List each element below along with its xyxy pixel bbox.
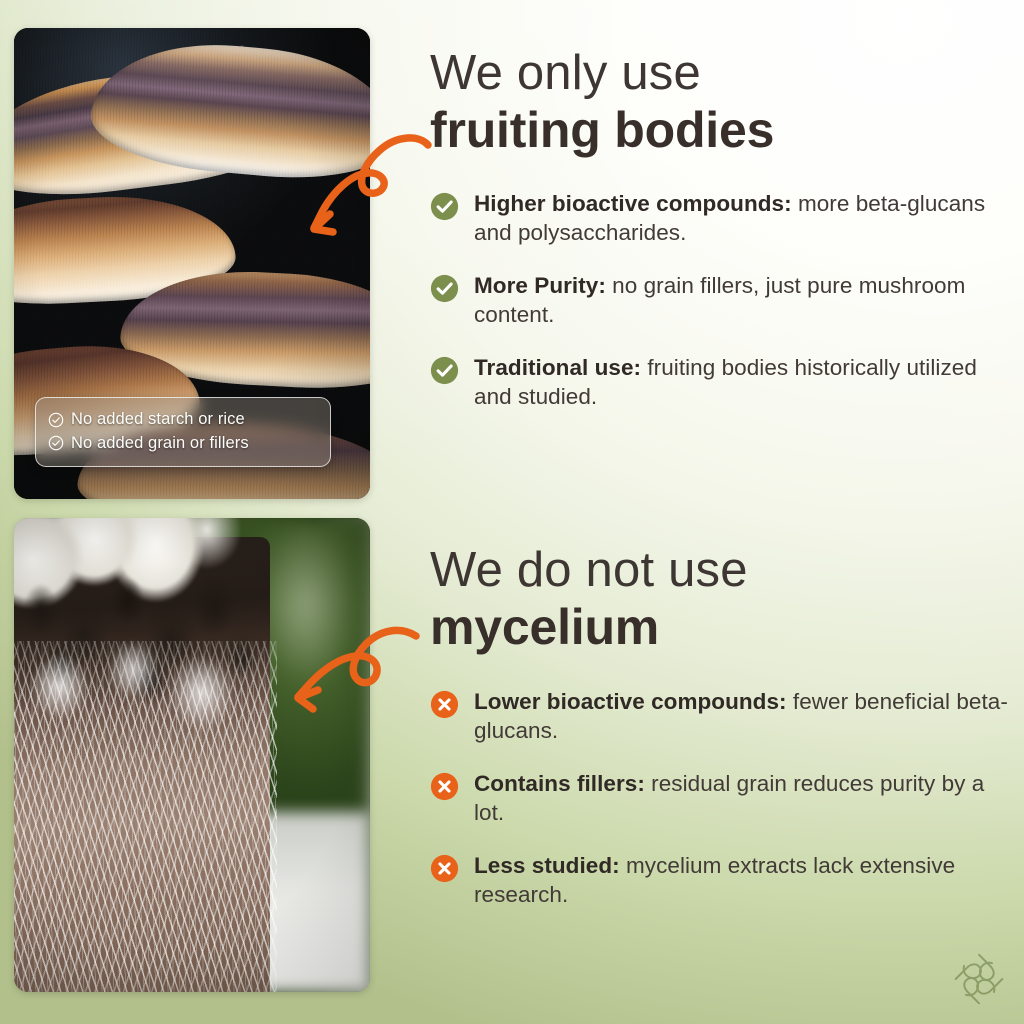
list-item-lead: More Purity: bbox=[474, 273, 606, 298]
fruiting-bodies-photo: No added starch or rice No added grain o… bbox=[14, 28, 370, 499]
no-fillers-caption-card: No added starch or rice No added grain o… bbox=[35, 397, 331, 467]
list-item: Contains fillers: residual grain reduces… bbox=[430, 769, 1012, 828]
list-item-lead: Higher bioactive compounds: bbox=[474, 191, 792, 216]
list-item-text: Lower bioactive compounds: fewer benefic… bbox=[474, 687, 1012, 746]
check-circle-icon bbox=[430, 356, 459, 385]
photo-vignette bbox=[14, 518, 370, 992]
mycelium-photo bbox=[14, 518, 370, 992]
brand-knot-logo bbox=[951, 950, 1007, 1008]
mycelium-section: We do not use mycelium Lower bioactive c… bbox=[430, 545, 1012, 910]
list-item-text: Contains fillers: residual grain reduces… bbox=[474, 769, 1012, 828]
heading-line-2: fruiting bodies bbox=[430, 102, 1012, 158]
list-item: More Purity: no grain fillers, just pure… bbox=[430, 271, 1012, 330]
heading-line-1: We do not use bbox=[430, 545, 1012, 597]
heading-line-1: We only use bbox=[430, 48, 1012, 100]
list-item-text: Traditional use: fruiting bodies histori… bbox=[474, 353, 1012, 412]
check-outline-icon bbox=[48, 412, 64, 428]
drawbacks-list: Lower bioactive compounds: fewer benefic… bbox=[430, 687, 1012, 910]
fruiting-bodies-section: We only use fruiting bodies Higher bioac… bbox=[430, 48, 1012, 412]
x-circle-icon bbox=[430, 772, 459, 801]
list-item-lead: Less studied: bbox=[474, 853, 620, 878]
page-title-fruiting: We only use fruiting bodies bbox=[430, 48, 1012, 158]
x-circle-icon bbox=[430, 690, 459, 719]
heading-line-2: mycelium bbox=[430, 599, 1012, 655]
list-item-text: Higher bioactive compounds: more beta-gl… bbox=[474, 189, 1012, 248]
list-item-text: Less studied: mycelium extracts lack ext… bbox=[474, 851, 1012, 910]
caption-line: No added starch or rice bbox=[48, 408, 318, 431]
list-item-text: More Purity: no grain fillers, just pure… bbox=[474, 271, 1012, 330]
caption-text: No added grain or fillers bbox=[71, 432, 249, 455]
list-item-lead: Traditional use: bbox=[474, 355, 641, 380]
list-item: Higher bioactive compounds: more beta-gl… bbox=[430, 189, 1012, 248]
check-circle-icon bbox=[430, 274, 459, 303]
list-item-lead: Lower bioactive compounds: bbox=[474, 689, 787, 714]
infographic-canvas: No added starch or rice No added grain o… bbox=[0, 0, 1024, 1024]
caption-text: No added starch or rice bbox=[71, 408, 245, 431]
benefits-list: Higher bioactive compounds: more beta-gl… bbox=[430, 189, 1012, 412]
list-item-lead: Contains fillers: bbox=[474, 771, 645, 796]
x-circle-icon bbox=[430, 854, 459, 883]
list-item: Traditional use: fruiting bodies histori… bbox=[430, 353, 1012, 412]
check-outline-icon bbox=[48, 435, 64, 451]
page-title-mycelium: We do not use mycelium bbox=[430, 545, 1012, 655]
list-item: Lower bioactive compounds: fewer benefic… bbox=[430, 687, 1012, 746]
caption-line: No added grain or fillers bbox=[48, 432, 318, 455]
list-item: Less studied: mycelium extracts lack ext… bbox=[430, 851, 1012, 910]
check-circle-icon bbox=[430, 192, 459, 221]
